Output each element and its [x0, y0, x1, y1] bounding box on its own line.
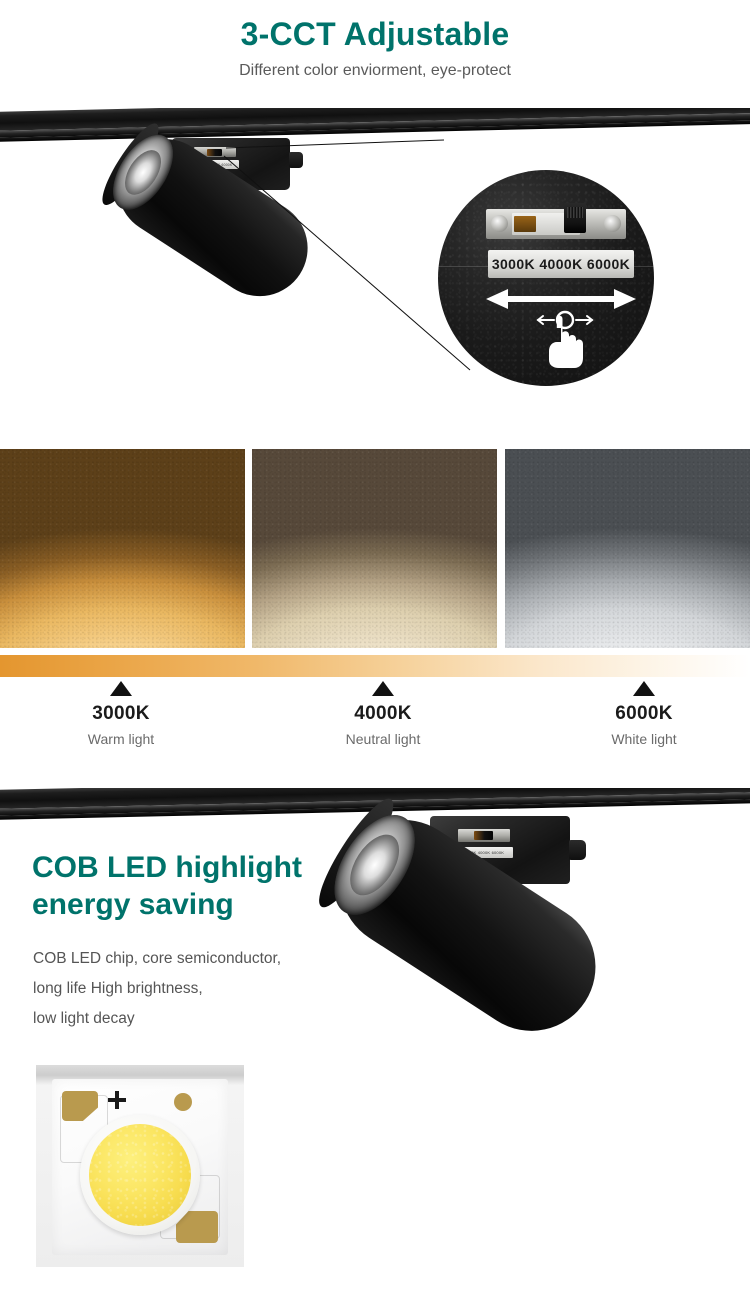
wall-wash-white	[505, 449, 750, 648]
cct-marker-3000k: 3000K Warm light	[21, 681, 221, 747]
cob-body-line1: COB LED chip, core semiconductor,	[33, 944, 373, 974]
page-title: 3-CCT Adjustable	[0, 0, 750, 54]
hero-section-top: 3000K 4000K 6000K 3000K 4000K 6000K	[0, 108, 750, 440]
cob-led-chip-photo	[36, 1065, 244, 1267]
track-spotlight-bottom: 3000K 4000K 6000K	[330, 798, 750, 1268]
wall-wash-neutral	[252, 449, 497, 648]
triangle-marker-icon	[110, 681, 132, 696]
wall-wash-warm	[0, 449, 245, 648]
cct-value: 3000K	[21, 703, 221, 725]
product-feature-page: 3-CCT Adjustable Different color enviorm…	[0, 0, 750, 1294]
cct-dip-switch	[458, 829, 510, 842]
cct-photo-neutral	[252, 449, 497, 648]
track-spotlight-top: 3000K 4000K 6000K	[110, 130, 390, 430]
page-header: 3-CCT Adjustable Different color enviorm…	[0, 0, 750, 110]
cct-switch-callout: 3000K 4000K 6000K	[438, 170, 654, 386]
cob-body-line2: long life High brightness,	[33, 974, 373, 1004]
screw-right-icon	[604, 215, 621, 232]
cob-section-body: COB LED chip, core semiconductor, long l…	[33, 944, 373, 1035]
cct-gradient-bar	[0, 655, 750, 677]
triangle-marker-icon	[372, 681, 394, 696]
kelvin-scale-label: 3000K 4000K 6000K	[488, 250, 634, 278]
cob-body-line3: low light decay	[33, 1004, 373, 1034]
triangle-marker-icon	[633, 681, 655, 696]
cct-marker-6000k: 6000K White light	[544, 681, 744, 747]
cob-phosphor-surface	[89, 1124, 191, 1226]
page-subtitle: Different color enviorment, eye-protect	[0, 54, 750, 80]
screw-left-icon	[491, 215, 508, 232]
cct-description: White light	[544, 731, 744, 747]
double-arrow-horizontal-icon	[486, 288, 636, 310]
cct-photo-row	[0, 449, 750, 648]
pointing-hand-icon	[534, 308, 596, 370]
polarity-plus-icon	[108, 1091, 126, 1109]
switch-toggle-handle[interactable]	[564, 203, 586, 233]
cct-photo-warm	[0, 449, 245, 648]
cct-value: 6000K	[544, 703, 744, 725]
cob-phosphor-ring	[80, 1115, 200, 1235]
cct-marker-4000k: 4000K Neutral light	[283, 681, 483, 747]
cct-marker-row: 3000K Warm light 4000K Neutral light 600…	[0, 681, 750, 763]
dip-switch-magnified[interactable]	[486, 209, 626, 239]
cct-photo-white	[505, 449, 750, 648]
cob-substrate	[52, 1079, 228, 1255]
cob-alignment-dot	[174, 1093, 192, 1111]
cct-description: Neutral light	[283, 731, 483, 747]
cct-value: 4000K	[283, 703, 483, 725]
cct-description: Warm light	[21, 731, 221, 747]
